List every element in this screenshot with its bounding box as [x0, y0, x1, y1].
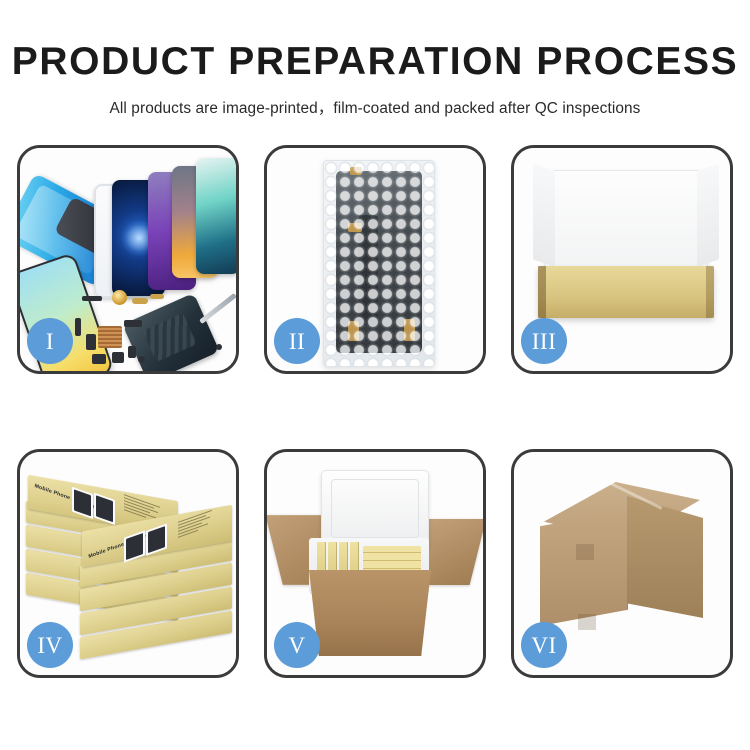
product-preparation-infographic: PRODUCT PREPARATION PROCESS All products… [0, 0, 750, 750]
header: PRODUCT PREPARATION PROCESS All products… [0, 0, 750, 118]
carton-tab-icon [576, 544, 594, 560]
tweezers-tool-icon [199, 293, 236, 324]
antenna-part-icon [82, 296, 102, 301]
bubble-wrap-bag-icon [323, 160, 435, 367]
step-numeral: VI [531, 634, 556, 657]
camera-part-icon [92, 354, 106, 364]
speaker-part-icon [112, 290, 127, 305]
step-badge-2: II [274, 318, 320, 364]
step-numeral: IV [37, 634, 62, 657]
box-window-icon [72, 487, 93, 519]
tape-piece-icon [404, 319, 415, 341]
step-badge-4: IV [27, 622, 73, 668]
logic-board-part-icon [98, 326, 122, 348]
page-title: PRODUCT PREPARATION PROCESS [0, 42, 750, 81]
step-badge-6: VI [521, 622, 567, 668]
screw-part-icon [216, 344, 222, 350]
process-step-panel-3: III [511, 145, 733, 374]
kraft-tray-icon [538, 266, 714, 318]
tape-piece-icon [350, 167, 362, 175]
foam-lid-icon [321, 470, 429, 548]
box-window-icon [94, 493, 115, 525]
connector-part-icon [124, 320, 142, 327]
step-badge-3: III [521, 318, 567, 364]
carton-tab-icon [578, 614, 596, 630]
step-numeral: III [532, 330, 556, 353]
step-numeral: II [289, 330, 305, 353]
flex-cable-part-icon [150, 294, 164, 299]
box-spec-lines-icon [178, 508, 218, 540]
flex-cable-part-icon [132, 298, 148, 304]
box-window-icon [146, 523, 167, 555]
process-step-panel-2: II [264, 145, 486, 374]
process-step-grid: I II [17, 145, 733, 678]
button-part-icon [112, 352, 124, 363]
screw-part-icon [75, 318, 81, 336]
process-step-panel-4: Mobile Phone Spare Parts Mobile Phone Sp… [17, 449, 239, 678]
step-badge-1: I [27, 318, 73, 364]
tape-piece-icon [348, 223, 362, 232]
sim-tray-part-icon [128, 346, 136, 358]
carton-front-face-icon [540, 510, 628, 626]
bracket-part-icon [86, 334, 96, 350]
process-step-panel-5: V [264, 449, 486, 678]
phone-back-housing-icon [122, 293, 219, 371]
phone-teal-icon [196, 158, 236, 274]
step-numeral: I [46, 330, 54, 353]
process-step-panel-1: I [17, 145, 239, 374]
step-numeral: V [288, 634, 305, 657]
step-badge-5: V [274, 622, 320, 668]
page-subtitle: All products are image-printed，film-coat… [0, 96, 750, 118]
tape-piece-icon [348, 321, 359, 341]
shipping-carton-icon [309, 570, 431, 656]
process-step-panel-6: VI [511, 449, 733, 678]
screw-part-icon [138, 356, 145, 363]
carton-side-face-icon [627, 496, 703, 618]
